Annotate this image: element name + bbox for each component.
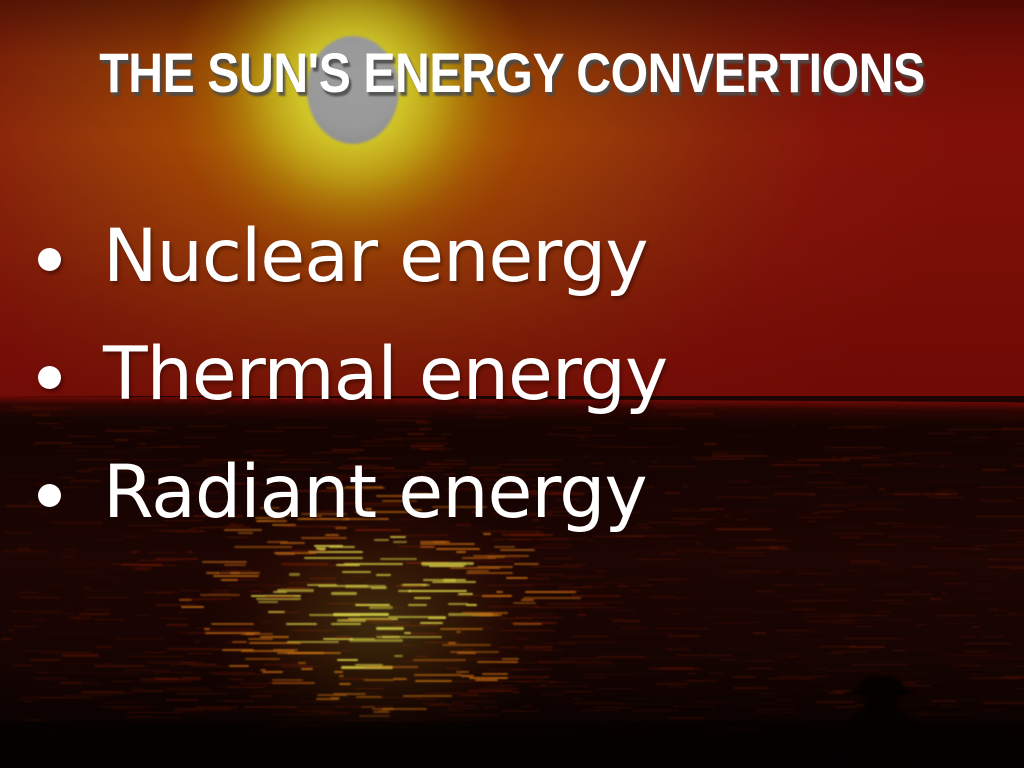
water-streak — [788, 639, 825, 640]
water-streak — [250, 591, 262, 592]
water-streak — [920, 635, 965, 636]
water-streak — [192, 666, 229, 667]
water-streak — [272, 679, 303, 681]
water-streak — [760, 635, 801, 636]
water-streak — [530, 566, 582, 567]
water-streak — [331, 592, 357, 595]
bullet-list: Nuclear energy Thermal energy Radiant en… — [38, 198, 938, 552]
water-streak — [432, 581, 477, 583]
water-streak — [977, 657, 1006, 658]
water-streak — [536, 574, 564, 575]
water-streak — [414, 597, 430, 599]
water-streak — [224, 564, 246, 566]
water-streak — [805, 614, 818, 615]
list-item: Thermal energy — [38, 316, 938, 434]
water-streak — [978, 487, 1024, 488]
water-streak — [1001, 718, 1019, 719]
water-streak — [67, 604, 74, 605]
water-streak — [538, 661, 575, 663]
water-streak — [334, 671, 343, 673]
water-streak — [363, 692, 377, 693]
water-streak — [746, 668, 774, 669]
water-streak — [778, 676, 830, 677]
water-streak — [181, 606, 204, 608]
water-streak — [972, 590, 988, 591]
water-streak — [761, 566, 799, 567]
page-title: THE SUN'S ENERGY CONVERTIONS — [72, 44, 953, 102]
water-streak — [354, 688, 384, 689]
water-streak — [467, 701, 496, 702]
water-streak — [467, 658, 504, 659]
bullet-dot-icon — [38, 366, 61, 389]
bullet-dot-icon — [38, 248, 61, 271]
water-streak — [179, 599, 192, 601]
water-streak — [778, 700, 793, 701]
water-streak — [572, 694, 612, 695]
water-streak — [82, 683, 102, 684]
water-streak — [573, 698, 579, 699]
water-streak — [1013, 538, 1024, 539]
water-streak — [135, 701, 162, 702]
water-streak — [364, 679, 394, 681]
water-streak — [929, 573, 958, 574]
water-streak — [211, 623, 254, 625]
water-streak — [339, 683, 351, 685]
water-streak — [277, 589, 314, 592]
water-streak — [793, 609, 816, 610]
water-streak — [110, 681, 134, 682]
water-streak — [596, 688, 635, 689]
water-streak — [375, 634, 389, 635]
water-streak — [1002, 428, 1024, 430]
water-streak — [177, 693, 230, 694]
water-streak — [304, 557, 363, 559]
water-streak — [566, 578, 578, 579]
water-streak — [11, 611, 62, 612]
water-streak — [60, 556, 77, 557]
water-streak — [404, 632, 411, 634]
water-streak — [65, 570, 110, 571]
water-streak — [13, 665, 32, 666]
water-streak — [281, 563, 328, 565]
water-streak — [733, 687, 769, 689]
water-streak — [339, 675, 345, 677]
water-streak — [517, 681, 557, 682]
water-streak — [677, 647, 689, 648]
water-streak — [535, 679, 544, 680]
water-streak — [961, 636, 974, 637]
water-streak — [20, 597, 61, 598]
water-streak — [349, 639, 404, 642]
water-streak — [511, 691, 521, 693]
water-streak — [369, 622, 409, 623]
water-streak — [245, 658, 279, 660]
water-streak — [252, 691, 294, 692]
water-streak — [425, 642, 459, 643]
water-streak — [660, 553, 678, 554]
water-streak — [345, 720, 374, 721]
water-streak — [141, 681, 191, 682]
water-streak — [558, 587, 593, 588]
water-streak — [577, 614, 587, 616]
water-streak — [475, 561, 516, 562]
water-streak — [717, 576, 753, 577]
water-streak — [272, 714, 331, 715]
water-streak — [81, 627, 121, 628]
list-item-label: Thermal energy — [103, 336, 667, 414]
water-streak — [167, 648, 222, 650]
water-streak — [514, 563, 539, 565]
water-streak — [428, 617, 446, 619]
water-streak — [557, 576, 606, 577]
water-streak — [595, 571, 605, 572]
water-streak — [970, 549, 987, 550]
water-streak — [117, 568, 123, 569]
water-streak — [668, 635, 700, 637]
water-streak — [950, 685, 956, 686]
water-streak — [719, 560, 754, 561]
water-streak — [756, 591, 775, 592]
water-streak — [277, 652, 324, 654]
water-streak — [318, 585, 369, 587]
water-streak — [1009, 658, 1024, 659]
water-streak — [79, 693, 134, 694]
water-streak — [260, 621, 271, 622]
water-streak — [724, 648, 752, 649]
water-streak — [488, 606, 540, 607]
water-streak — [946, 429, 1004, 430]
water-streak — [228, 585, 282, 586]
water-streak — [994, 615, 1024, 616]
water-streak — [976, 516, 1024, 517]
water-streak — [55, 566, 110, 567]
water-streak — [310, 578, 336, 579]
water-streak — [541, 643, 575, 644]
water-streak — [772, 704, 795, 705]
water-streak — [281, 666, 314, 667]
water-streak — [753, 632, 766, 634]
water-streak — [930, 598, 942, 600]
water-streak — [659, 614, 688, 615]
water-streak — [488, 669, 525, 670]
water-streak — [969, 588, 1017, 589]
water-streak — [627, 597, 641, 598]
water-streak — [819, 552, 866, 553]
water-streak — [469, 677, 508, 679]
water-streak — [452, 702, 465, 703]
water-streak — [741, 611, 791, 612]
water-streak — [987, 559, 1024, 560]
water-streak — [36, 613, 76, 614]
water-streak — [506, 676, 550, 678]
water-streak — [953, 426, 994, 427]
water-streak — [248, 638, 272, 640]
water-streak — [856, 626, 874, 627]
water-streak — [25, 663, 36, 664]
water-streak — [286, 623, 318, 625]
water-streak — [128, 716, 153, 717]
water-streak — [576, 607, 618, 608]
water-streak — [125, 646, 148, 647]
water-streak — [786, 570, 814, 571]
water-streak — [145, 652, 165, 653]
water-streak — [76, 623, 100, 624]
water-streak — [995, 479, 1024, 480]
water-streak — [659, 667, 694, 669]
water-streak — [442, 644, 491, 646]
water-streak — [262, 671, 283, 673]
water-streak — [111, 583, 128, 584]
water-streak — [450, 651, 499, 653]
water-streak — [482, 595, 511, 597]
water-streak — [794, 595, 831, 596]
water-streak — [93, 673, 139, 674]
water-streak — [1012, 666, 1024, 667]
water-streak — [417, 698, 436, 700]
water-streak — [47, 585, 68, 586]
water-streak — [650, 591, 663, 592]
water-streak — [402, 645, 416, 646]
water-streak — [393, 678, 406, 680]
water-streak — [394, 625, 440, 626]
water-streak — [267, 612, 302, 613]
water-streak — [229, 679, 243, 680]
water-streak — [372, 708, 394, 710]
water-streak — [125, 717, 183, 718]
water-streak — [173, 710, 203, 711]
water-streak — [998, 717, 1024, 718]
water-streak — [477, 661, 518, 663]
water-streak — [776, 585, 793, 586]
water-streak — [179, 590, 200, 591]
water-streak — [376, 574, 390, 576]
water-streak — [21, 621, 81, 622]
water-streak — [344, 563, 403, 565]
water-streak — [62, 572, 100, 573]
water-streak — [447, 708, 478, 709]
water-streak — [221, 579, 238, 581]
water-streak — [789, 656, 799, 657]
water-streak — [28, 687, 83, 688]
water-streak — [668, 686, 688, 687]
water-streak — [17, 592, 39, 593]
water-streak — [563, 691, 592, 692]
water-streak — [963, 643, 1011, 644]
water-streak — [192, 600, 202, 601]
water-streak — [563, 564, 587, 565]
water-streak — [331, 623, 361, 625]
water-streak — [672, 658, 700, 659]
water-streak — [558, 590, 579, 592]
water-streak — [933, 528, 992, 529]
list-item: Nuclear energy — [38, 198, 938, 316]
water-streak — [40, 652, 91, 653]
water-streak — [177, 612, 205, 613]
water-streak — [414, 674, 462, 676]
water-streak — [935, 493, 958, 495]
water-streak — [239, 683, 274, 684]
water-streak — [104, 663, 113, 664]
water-streak — [612, 612, 620, 613]
water-streak — [163, 712, 211, 713]
water-streak — [649, 579, 688, 580]
water-streak — [466, 572, 513, 574]
water-streak — [133, 569, 151, 570]
water-streak — [699, 713, 731, 714]
water-streak — [817, 707, 836, 708]
water-streak — [1015, 688, 1024, 689]
water-streak — [36, 680, 95, 681]
water-streak — [760, 653, 818, 654]
water-streak — [353, 576, 366, 577]
water-streak — [499, 618, 532, 619]
water-streak — [29, 659, 61, 661]
water-streak — [212, 590, 229, 591]
water-streak — [446, 710, 466, 711]
water-streak — [571, 595, 621, 597]
water-streak — [56, 656, 88, 657]
water-streak — [873, 600, 906, 601]
water-streak — [678, 718, 721, 719]
water-streak — [902, 615, 908, 616]
water-streak — [839, 556, 897, 557]
water-streak — [744, 660, 774, 661]
water-streak — [18, 699, 28, 700]
water-streak — [425, 693, 478, 694]
water-streak — [759, 693, 775, 694]
water-streak — [709, 552, 766, 553]
water-streak — [560, 658, 601, 659]
water-streak — [90, 553, 146, 554]
water-streak — [482, 673, 508, 675]
water-streak — [17, 651, 52, 652]
water-streak — [709, 673, 723, 674]
water-streak — [103, 702, 136, 703]
water-streak — [1015, 498, 1024, 499]
water-streak — [828, 592, 852, 593]
water-streak — [757, 595, 786, 596]
water-streak — [616, 698, 647, 699]
water-streak — [81, 602, 105, 603]
water-streak — [795, 703, 802, 704]
water-streak — [665, 573, 684, 574]
water-streak — [916, 640, 923, 641]
water-streak — [982, 636, 1005, 637]
water-streak — [719, 703, 775, 704]
water-streak — [415, 680, 452, 682]
water-streak — [359, 715, 391, 717]
water-streak — [945, 600, 955, 601]
water-streak — [371, 587, 387, 589]
water-streak — [875, 611, 891, 612]
water-streak — [969, 678, 1020, 679]
water-streak — [229, 665, 249, 667]
water-streak — [523, 646, 553, 648]
water-streak — [871, 619, 912, 620]
water-streak — [793, 689, 805, 690]
water-streak — [94, 619, 125, 620]
water-streak — [501, 630, 556, 631]
water-streak — [820, 589, 858, 590]
water-streak — [243, 706, 297, 708]
water-streak — [529, 578, 550, 579]
water-streak — [577, 663, 615, 664]
water-streak — [336, 636, 350, 638]
water-streak — [187, 653, 212, 654]
water-streak — [758, 557, 800, 558]
water-streak — [593, 583, 625, 584]
water-streak — [619, 633, 675, 634]
water-streak — [804, 616, 854, 617]
water-streak — [136, 615, 149, 616]
water-streak — [995, 595, 1024, 596]
water-streak — [110, 708, 146, 709]
water-streak — [987, 566, 1024, 568]
water-streak — [1006, 530, 1023, 531]
water-streak — [456, 671, 469, 673]
water-streak — [260, 669, 266, 671]
water-streak — [440, 628, 484, 630]
water-streak — [95, 646, 113, 648]
water-streak — [625, 712, 658, 713]
water-streak — [301, 668, 313, 670]
water-streak — [981, 469, 1006, 471]
water-streak — [949, 619, 967, 620]
water-streak — [79, 613, 109, 615]
water-streak — [109, 641, 151, 642]
water-streak — [139, 560, 177, 561]
water-streak — [966, 452, 1012, 453]
water-streak — [21, 697, 68, 698]
water-streak — [655, 683, 690, 685]
water-streak — [941, 593, 947, 594]
water-streak — [654, 708, 660, 709]
water-streak — [665, 637, 698, 638]
water-streak — [429, 565, 463, 567]
water-streak — [638, 585, 653, 586]
water-streak — [581, 710, 619, 711]
water-streak — [884, 594, 932, 595]
water-streak — [805, 658, 812, 659]
water-streak — [415, 656, 429, 657]
water-streak — [1015, 712, 1024, 713]
water-streak — [210, 672, 255, 674]
water-streak — [875, 673, 932, 674]
water-streak — [1003, 552, 1014, 553]
water-streak — [499, 647, 519, 648]
water-streak — [842, 665, 861, 666]
water-streak — [806, 657, 854, 658]
water-streak — [1002, 522, 1024, 523]
water-streak — [288, 582, 337, 583]
water-streak — [446, 668, 460, 669]
water-streak — [456, 631, 461, 633]
water-streak — [939, 631, 982, 632]
water-streak — [923, 692, 963, 693]
water-streak — [541, 650, 565, 651]
water-streak — [121, 564, 163, 566]
water-streak — [896, 643, 907, 644]
water-streak — [394, 655, 403, 657]
water-streak — [578, 602, 624, 603]
water-streak — [202, 561, 248, 563]
water-streak — [1014, 466, 1024, 467]
water-streak — [713, 573, 745, 574]
water-streak — [408, 633, 437, 634]
water-streak — [522, 649, 553, 650]
water-streak — [529, 614, 554, 615]
water-streak — [499, 690, 506, 691]
